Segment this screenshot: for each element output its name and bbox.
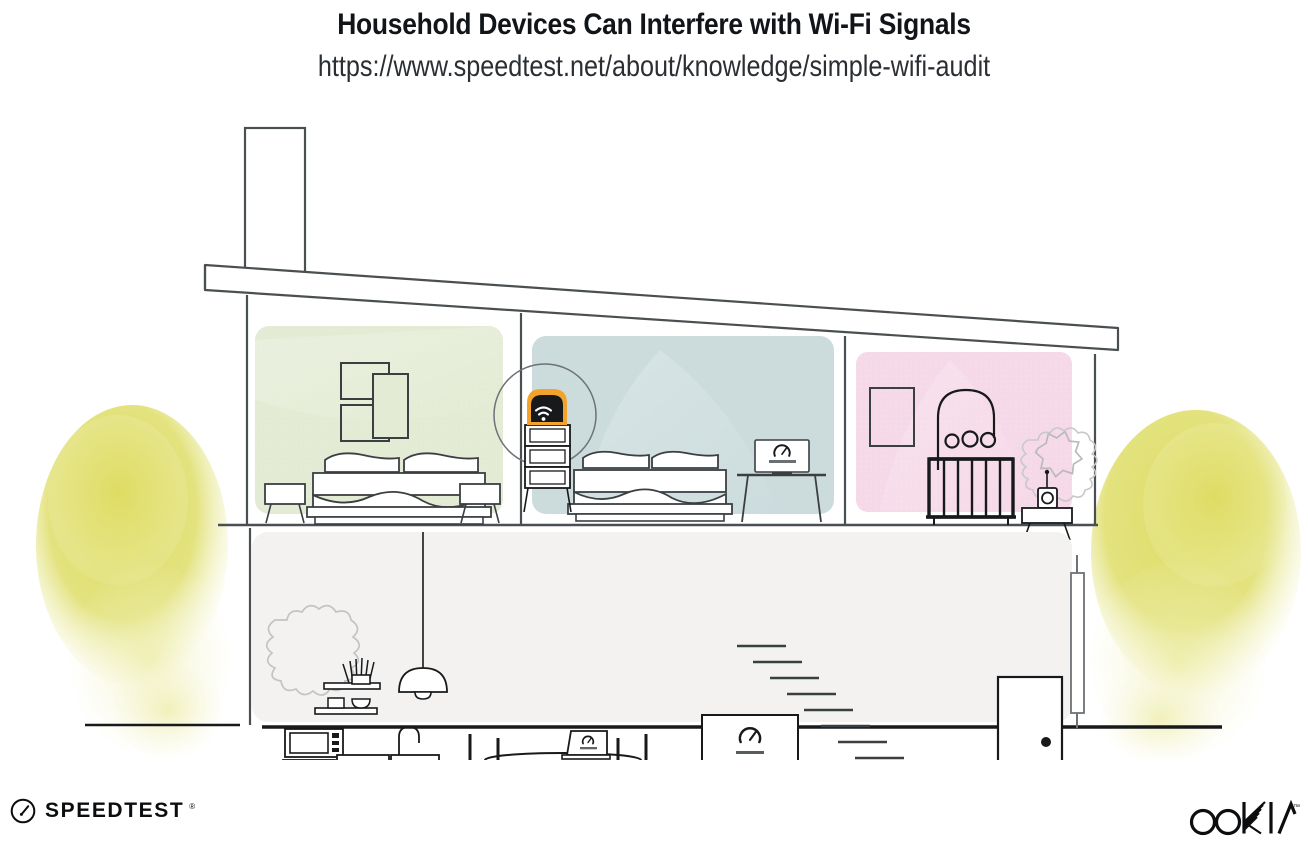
speedtest-logo[interactable]: SPEEDTEST ® <box>10 798 195 824</box>
chimney <box>245 128 305 278</box>
header: Household Devices Can Interfere with Wi-… <box>0 0 1308 84</box>
house-illustration-svg <box>0 100 1308 760</box>
house-cutaway-illustration <box>0 100 1308 760</box>
source-url: https://www.speedtest.net/about/knowledg… <box>105 42 1204 84</box>
tv-speedtest[interactable] <box>702 715 798 760</box>
microwave-drawn[interactable] <box>285 729 343 757</box>
room-bedroom-green <box>255 326 503 524</box>
door-knob-icon <box>1041 737 1051 747</box>
monitor-speedtest[interactable] <box>755 440 809 475</box>
foliage-right <box>1090 410 1301 760</box>
nightstand-left-green <box>265 484 305 523</box>
room-nursery-pink <box>856 352 1097 561</box>
speedtest-trademark: ® <box>189 802 195 811</box>
ookla-trademark: ™ <box>1293 804 1300 811</box>
ookla-wordmark-icon <box>1187 800 1299 838</box>
wifi-router[interactable] <box>527 389 567 425</box>
ookla-logo[interactable]: ™ <box>1187 800 1300 838</box>
infographic-page: Household Devices Can Interfere with Wi-… <box>0 0 1308 861</box>
footer: SPEEDTEST ® <box>0 778 1308 861</box>
room-bedroom-blue <box>532 336 834 522</box>
foliage-left <box>36 405 230 758</box>
speedtest-gauge-icon <box>10 798 36 824</box>
dining-area <box>468 731 648 760</box>
page-title: Household Devices Can Interfere with Wi-… <box>78 0 1229 42</box>
laptop-speedtest[interactable] <box>562 731 610 759</box>
exterior-post-right <box>1071 555 1084 728</box>
sink-faucet-icon <box>399 727 419 755</box>
speedtest-wordmark: SPEEDTEST <box>45 799 184 823</box>
